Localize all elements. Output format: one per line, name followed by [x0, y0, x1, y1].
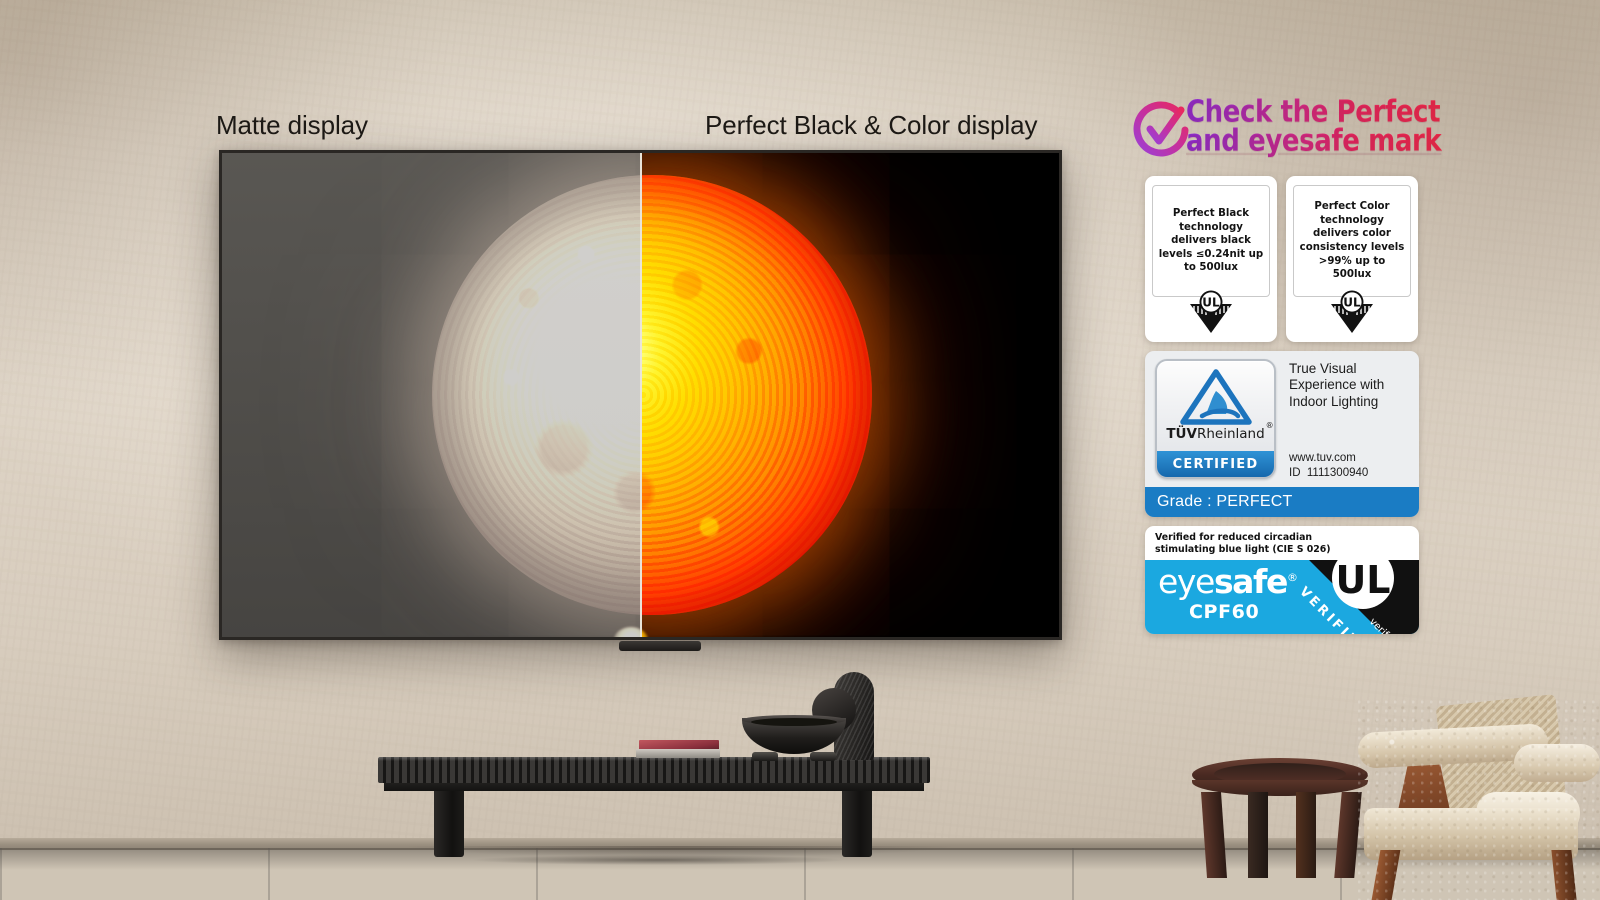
tuv-website: www.tuv.com	[1289, 451, 1411, 466]
ul-claim-box: Perfect Black technology delivers black …	[1152, 185, 1270, 297]
label-matte-display: Matte display	[216, 110, 368, 141]
eyesafe-blue-panel: eyesafe® CPF60 UL VERIFIED verify.UL.com…	[1145, 560, 1419, 634]
sun-image-perfect	[641, 153, 1060, 637]
eyesafe-logo-eye: eye	[1158, 562, 1214, 601]
ul-mark-icon: UL	[1325, 290, 1379, 334]
tuv-meta: www.tuv.com ID 1111300940	[1289, 451, 1411, 481]
label-perfect-display: Perfect Black & Color display	[705, 110, 1037, 141]
ul-card-perfect-color: Perfect Color technology delivers color …	[1286, 176, 1418, 342]
certification-panel: Perfect Black technology delivers black …	[1145, 176, 1419, 634]
tuv-id-line: ID 1111300940	[1289, 466, 1411, 481]
bowl-foot-right	[810, 752, 836, 761]
stool-leg	[1201, 792, 1227, 878]
ul-claim-row: Perfect Black technology delivers black …	[1145, 176, 1419, 342]
tv-screen	[222, 153, 1059, 637]
tuv-rheinland-card: TÜVRheinland® CERTIFIED True Visual Expe…	[1145, 351, 1419, 517]
tuv-plate: TÜVRheinland® CERTIFIED	[1155, 359, 1276, 479]
bench-leg-right	[842, 791, 872, 857]
sun-flare	[641, 627, 649, 637]
check-circle-icon	[1128, 97, 1194, 163]
tuv-grade-band: Grade : PERFECT	[1145, 487, 1419, 517]
headline: Check the Perfect and eyesafe mark	[1186, 96, 1456, 154]
tuv-brand-rheinland: Rheinland	[1197, 426, 1265, 442]
screen-half-matte	[222, 153, 641, 637]
sun-limb-darkening	[432, 175, 641, 615]
tuv-wordmark: TÜVRheinland®	[1166, 426, 1264, 442]
bowl	[742, 718, 846, 760]
screen-half-perfect	[641, 153, 1060, 637]
tuv-certified-band: CERTIFIED	[1157, 451, 1274, 477]
svg-text:UL: UL	[1335, 560, 1390, 602]
tv-stand-bar	[619, 641, 701, 651]
sun-disc	[641, 175, 873, 615]
scene-stage: Matte display Perfect Black & Color disp…	[0, 0, 1600, 900]
ul-verified-icon: UL VERIFIED verify.UL.com V74535 4	[1275, 560, 1419, 634]
bench-leg-left	[434, 791, 464, 857]
tuv-details: True Visual Experience with Indoor Light…	[1285, 351, 1419, 487]
bowl-interior	[751, 718, 837, 726]
ul-card-perfect-black: Perfect Black technology delivers black …	[1145, 176, 1277, 342]
tuv-triangle-icon	[1180, 369, 1252, 425]
bench-apron	[384, 783, 924, 791]
headline-line-2: and eyesafe mark	[1186, 125, 1456, 159]
bench	[378, 757, 930, 857]
sun-image-matte	[222, 153, 641, 637]
ul-claim-box: Perfect Color technology delivers color …	[1293, 185, 1411, 297]
sun-limb-darkening	[641, 175, 873, 615]
svg-text:UL: UL	[1202, 296, 1220, 310]
tuv-registered-mark: ®	[1266, 421, 1274, 430]
tuv-brand-tuv: TÜV	[1166, 426, 1197, 442]
bowl-foot-left	[752, 752, 778, 761]
eyesafe-verified-header: Verified for reduced circadian stimulati…	[1145, 526, 1419, 560]
eyesafe-card: Verified for reduced circadian stimulati…	[1145, 526, 1419, 634]
side-stool	[1192, 758, 1368, 878]
armchair	[1358, 700, 1600, 900]
stool-leg	[1248, 792, 1268, 878]
sun-flare	[614, 627, 641, 637]
sun-disc	[432, 175, 641, 615]
tuv-id-label: ID	[1289, 467, 1301, 479]
tuv-claim-text: True Visual Experience with Indoor Light…	[1289, 361, 1411, 410]
television	[219, 150, 1062, 640]
svg-text:UL: UL	[1343, 296, 1361, 310]
comparison-split-line	[640, 153, 642, 637]
chair-armrest-back	[1514, 744, 1600, 782]
book	[636, 740, 720, 758]
ul-claim-text: Perfect Color technology delivers color …	[1298, 200, 1406, 281]
eyesafe-verified-text: Verified for reduced circadian stimulati…	[1155, 532, 1335, 556]
bench-shadow	[398, 853, 918, 867]
ul-claim-text: Perfect Black technology delivers black …	[1157, 207, 1265, 275]
tuv-badge: TÜVRheinland® CERTIFIED	[1145, 351, 1285, 487]
tuv-id-value: 1111300940	[1307, 467, 1368, 479]
book-pages	[636, 749, 720, 758]
bench-top	[378, 757, 930, 783]
ul-mark-icon: UL	[1184, 290, 1238, 334]
tuv-body: TÜVRheinland® CERTIFIED True Visual Expe…	[1145, 351, 1419, 487]
stool-leg	[1296, 792, 1316, 878]
eyesafe-standard: CPF60	[1189, 601, 1259, 623]
